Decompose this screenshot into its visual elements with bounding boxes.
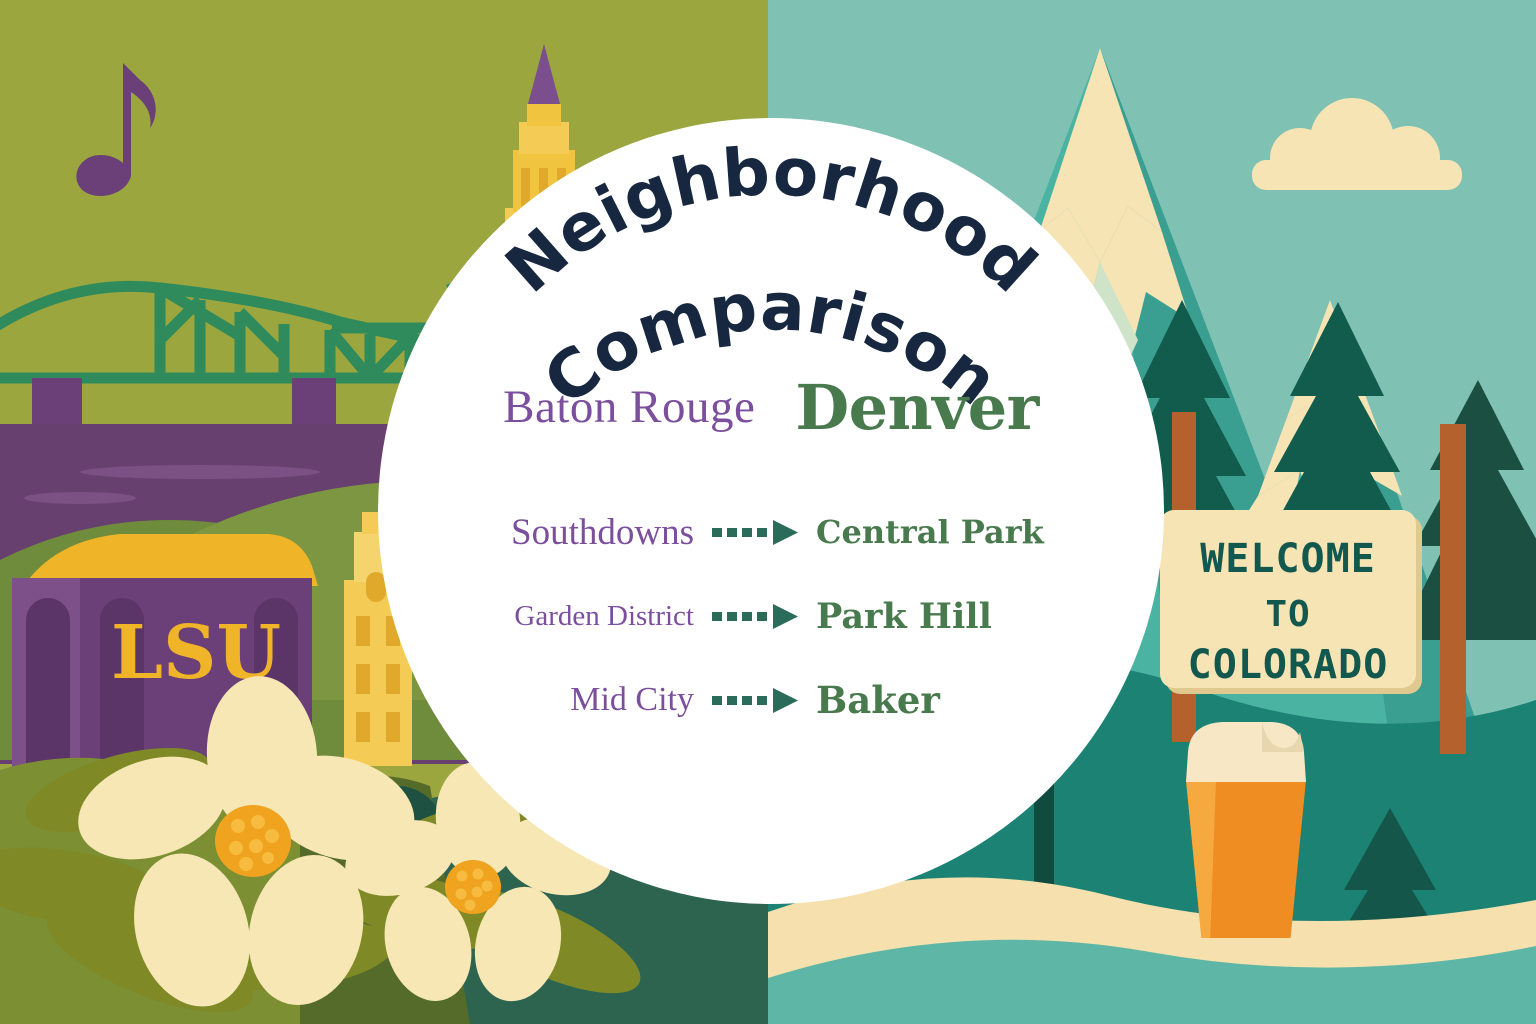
river-ripple (80, 465, 320, 479)
comparison-list: Southdowns Central Park Garden District (378, 490, 1164, 742)
sign-post (1440, 424, 1466, 754)
dashed-arrow-right-icon (708, 490, 804, 574)
neighborhood-right: Central Park (804, 513, 1164, 551)
comparison-row: Southdowns Central Park (378, 490, 1164, 574)
dashed-arrow-right-icon (708, 658, 804, 742)
neighborhood-right: Park Hill (804, 596, 1164, 637)
comparison-row: Mid City Baker (378, 658, 1164, 742)
city-header-row: Baton Rouge Denver (378, 362, 1164, 452)
neighborhood-right: Baker (804, 678, 1164, 722)
infographic-canvas: LSU (0, 0, 1536, 1024)
dashed-arrow-right-icon (708, 574, 804, 658)
sign-line-3: COLORADO (1188, 642, 1389, 688)
sign-line-1: WELCOME (1200, 536, 1376, 582)
sign-line-2: TO (1265, 594, 1310, 635)
neighborhood-left: Mid City (378, 681, 708, 719)
river-ripple (24, 492, 136, 504)
neighborhood-left: Garden District (378, 600, 708, 633)
neighborhood-left: Southdowns (378, 511, 708, 554)
beer-glass-base (1196, 938, 1300, 954)
comparison-row: Garden District Park Hill (378, 574, 1164, 658)
city-name-right: Denver (795, 371, 1038, 444)
beer-glass-icon (1186, 722, 1306, 954)
city-name-left: Baton Rouge (503, 380, 755, 434)
